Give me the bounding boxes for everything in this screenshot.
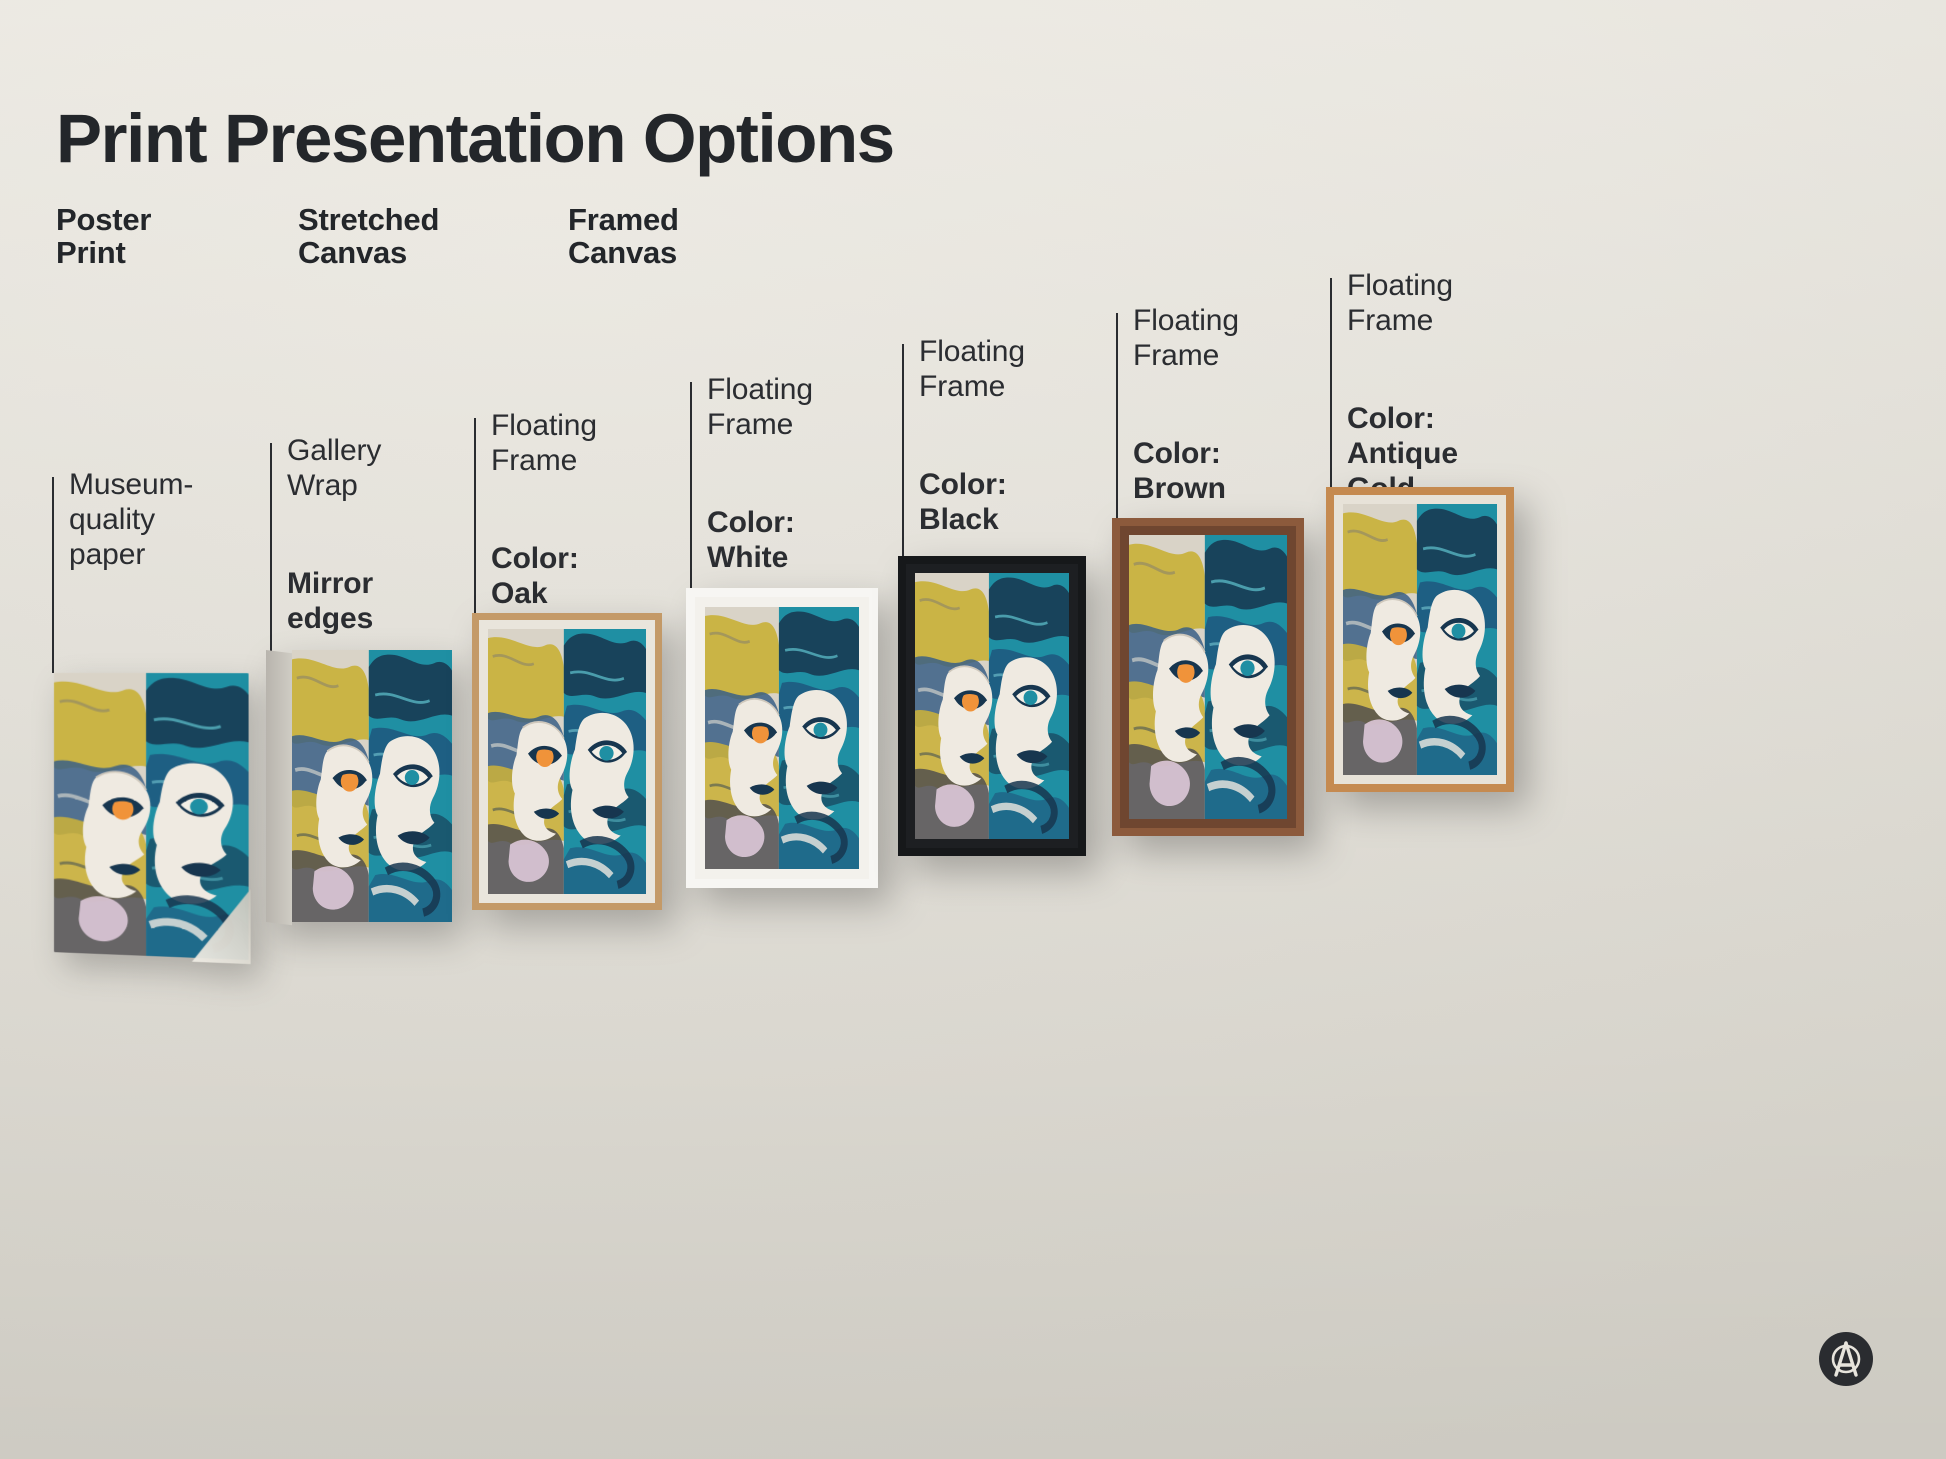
annotation-type-label: Museum- quality paper [69, 468, 193, 572]
category-label-stretched-canvas: Stretched Canvas [298, 203, 439, 270]
page-title: Print Presentation Options [56, 104, 894, 173]
annotation-detail-label: Color: Black [919, 468, 1007, 538]
leader-line [474, 418, 476, 614]
artwork-image [1129, 535, 1287, 819]
artwork-image [705, 607, 859, 869]
leader-line [1330, 278, 1332, 490]
artwork-image [54, 673, 249, 960]
artwork-image [292, 650, 452, 922]
leader-line [52, 477, 54, 673]
category-label-poster-print: Poster Print [56, 203, 151, 270]
leader-line [690, 382, 692, 590]
annotation-type-label: Floating Frame [707, 373, 813, 443]
product-floating-frame-white[interactable] [686, 588, 878, 888]
product-poster-print[interactable] [54, 673, 249, 960]
product-floating-frame-brown[interactable] [1112, 518, 1304, 836]
artwork-image [915, 573, 1069, 839]
leader-line [1116, 313, 1118, 520]
product-floating-frame-black[interactable] [898, 556, 1086, 856]
annotation-type-label: Floating Frame [1347, 269, 1453, 339]
poster-canvas: Print Presentation Options Poster Print … [0, 0, 1946, 1459]
annotation-detail-label: Color: Brown [1133, 437, 1226, 507]
annotation-type-label: Floating Frame [1133, 304, 1239, 374]
leader-line [902, 344, 904, 558]
annotation-type-label: Floating Frame [919, 335, 1025, 405]
annotation-type-label: Gallery Wrap [287, 434, 381, 504]
artwork-image [1343, 504, 1497, 775]
canvas-mirror-edge [266, 650, 292, 925]
product-floating-frame-oak[interactable] [472, 613, 662, 910]
leader-line [270, 443, 272, 651]
category-label-framed-canvas: Framed Canvas [568, 203, 679, 270]
annotation-detail-label: Color: Oak [491, 542, 579, 612]
product-floating-frame-antique-gold[interactable] [1326, 487, 1514, 792]
artwork-image [488, 629, 646, 894]
monogram-a-icon [1818, 1331, 1874, 1387]
product-stretched-canvas[interactable] [266, 650, 452, 922]
annotation-type-label: Floating Frame [491, 409, 597, 479]
annotation-detail-label: Mirror edges [287, 567, 373, 637]
annotation-detail-label: Color: White [707, 506, 795, 576]
